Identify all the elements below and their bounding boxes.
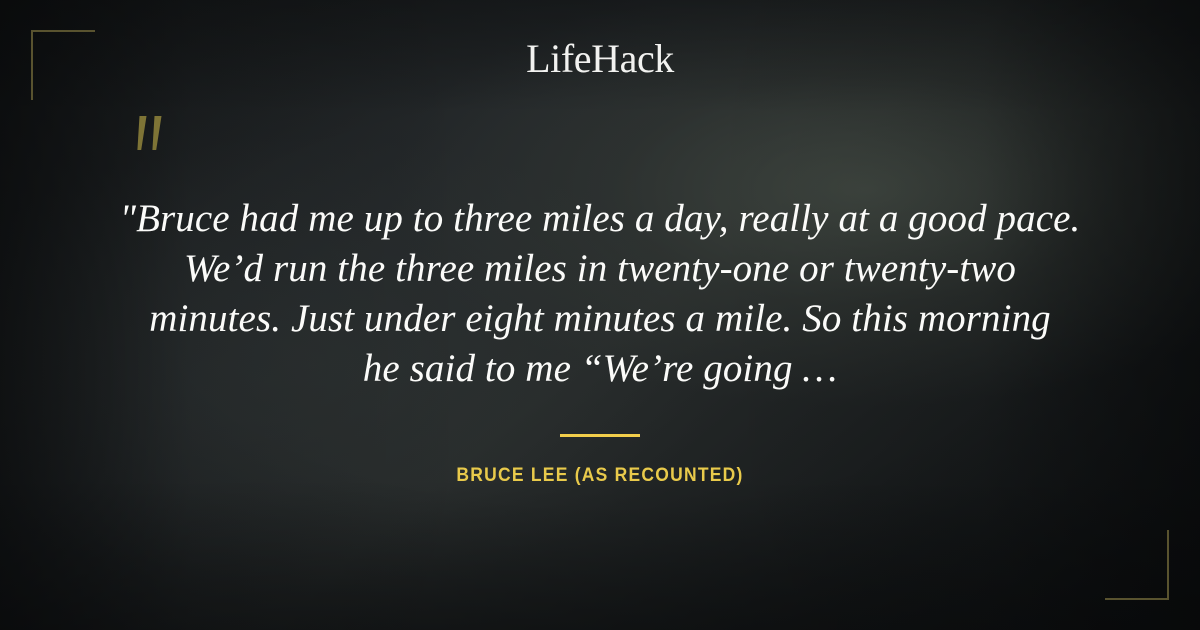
- brand-logo: LifeHack: [0, 36, 1200, 82]
- corner-bracket-bottom-right-icon: [1105, 530, 1169, 600]
- quote-card: LifeHack "Bruce had me up to three miles…: [0, 0, 1200, 630]
- quotation-mark-icon: [125, 112, 185, 172]
- quote-text: "Bruce had me up to three miles a day, r…: [80, 194, 1120, 394]
- quote-attribution: BRUCE LEE (AS RECOUNTED): [48, 464, 1152, 488]
- quote-divider: [560, 434, 640, 437]
